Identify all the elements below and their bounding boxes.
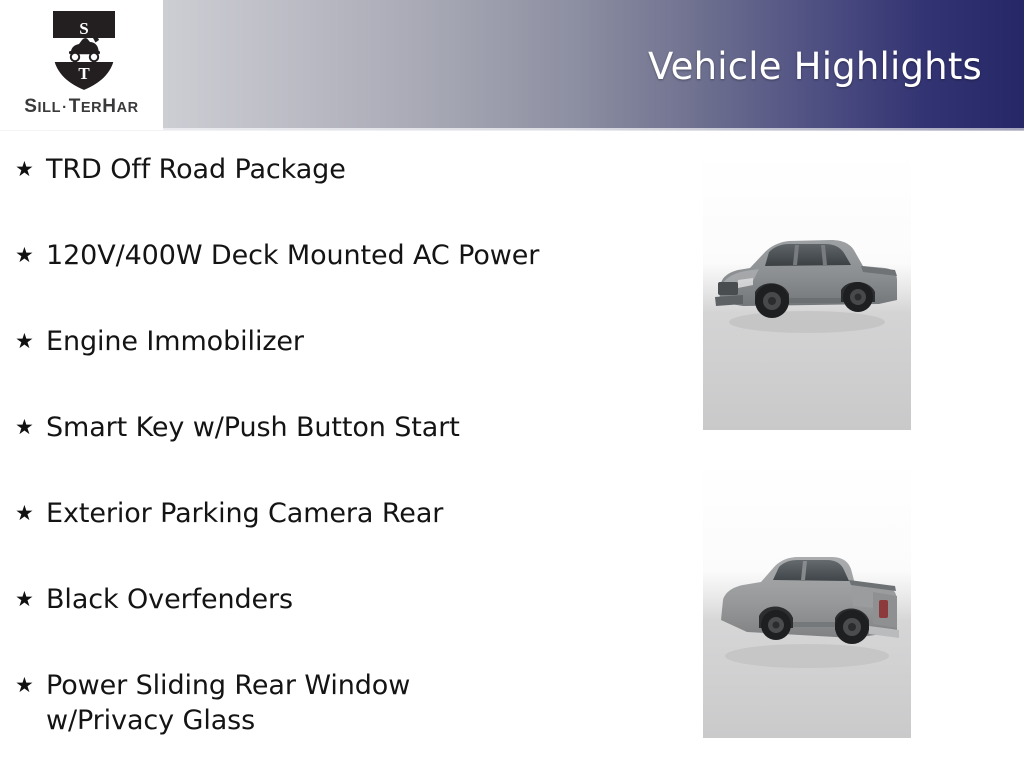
list-item: ★ Power Sliding Rear Window w/Privacy Gl… xyxy=(10,668,670,754)
list-item-label: TRD Off Road Package xyxy=(46,152,346,187)
list-item: ★ Smart Key w/Push Button Start xyxy=(10,410,670,496)
list-item-label: Engine Immobilizer xyxy=(46,324,304,359)
wordmark-ar: AR xyxy=(117,100,139,116)
star-icon: ★ xyxy=(10,668,46,702)
wordmark-ill: ILL xyxy=(38,100,62,116)
vehicle-photo-front-three-quarter xyxy=(703,152,911,430)
list-item: ★ Exterior Parking Camera Rear xyxy=(10,496,670,582)
shield-logo-icon: S T xyxy=(49,7,119,93)
star-icon: ★ xyxy=(10,496,46,530)
list-item: ★ Black Overfenders xyxy=(10,582,670,668)
star-icon: ★ xyxy=(10,410,46,444)
svg-text:S: S xyxy=(79,19,88,38)
wordmark-t: T xyxy=(69,96,81,117)
list-item-label: Power Sliding Rear Window w/Privacy Glas… xyxy=(46,668,410,738)
star-icon: ★ xyxy=(10,582,46,616)
star-icon: ★ xyxy=(10,238,46,272)
star-icon: ★ xyxy=(10,324,46,358)
list-item: ★ Engine Immobilizer xyxy=(10,324,670,410)
list-item-label: Exterior Parking Camera Rear xyxy=(46,496,443,531)
dealer-logo: S T SILL·TERHAR xyxy=(0,0,163,130)
vehicle-photo-rear-three-quarter xyxy=(703,460,911,738)
list-item: ★ 120V/400W Deck Mounted AC Power xyxy=(10,238,670,324)
list-item-label: Smart Key w/Push Button Start xyxy=(46,410,460,445)
wordmark-s: S xyxy=(24,96,37,117)
page-title: Vehicle Highlights xyxy=(648,45,982,88)
list-item-label: 120V/400W Deck Mounted AC Power xyxy=(46,238,539,273)
wordmark-er: ER xyxy=(81,100,102,116)
vehicle-highlights-list: ★ TRD Off Road Package ★ 120V/400W Deck … xyxy=(10,152,670,754)
dealer-wordmark: SILL·TERHAR xyxy=(0,96,163,118)
list-item: ★ TRD Off Road Package xyxy=(10,152,670,238)
wordmark-h: H xyxy=(102,96,116,117)
list-item-label: Black Overfenders xyxy=(46,582,293,617)
star-icon: ★ xyxy=(10,152,46,186)
svg-text:T: T xyxy=(78,64,90,83)
wordmark-dot: · xyxy=(61,99,69,116)
